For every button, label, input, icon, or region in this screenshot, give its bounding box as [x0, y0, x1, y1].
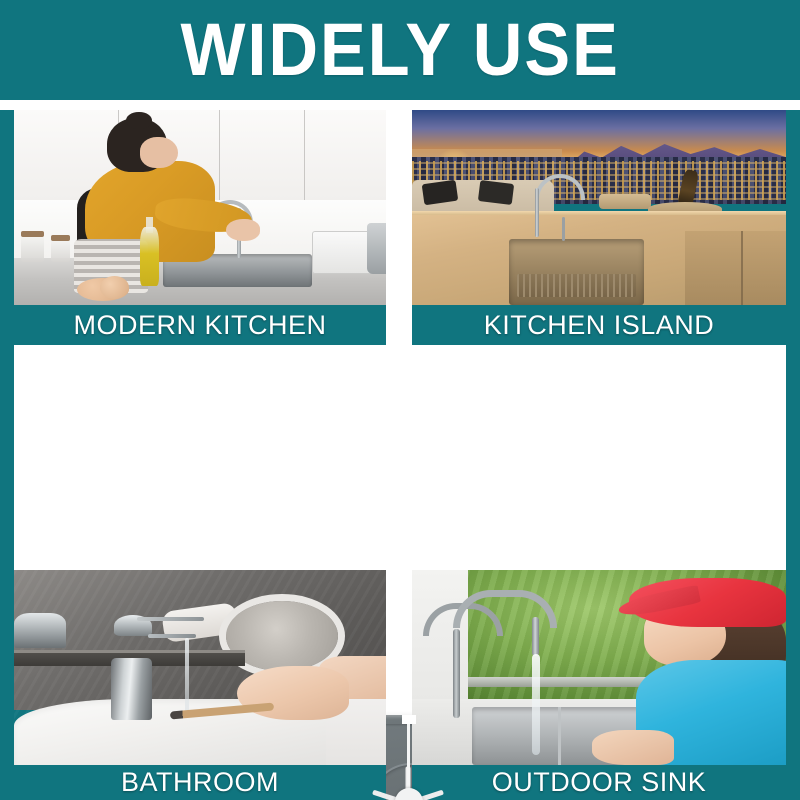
panel-modern-kitchen[interactable]: MODERN KITCHEN [14, 110, 386, 345]
poster-canvas: WIDELY USE [0, 0, 800, 800]
caption-bathroom: BATHROOM [14, 765, 386, 800]
scene-modern-kitchen [14, 110, 386, 305]
mat-slit-notch [402, 715, 416, 724]
caption-kitchen-island: KITCHEN ISLAND [412, 305, 786, 345]
title-divider [0, 100, 800, 110]
page-title: WIDELY USE [180, 13, 619, 87]
panel-bathroom[interactable]: BATHROOM [14, 570, 386, 800]
top-row-gutter [386, 110, 412, 345]
scene-bathroom [14, 570, 386, 765]
product-showcase-band [14, 345, 786, 570]
panel-kitchen-island[interactable]: KITCHEN ISLAND [412, 110, 786, 345]
scene-kitchen-island [412, 110, 786, 305]
poster-title-bar: WIDELY USE [0, 0, 800, 100]
caption-outdoor-sink: OUTDOOR SINK [412, 765, 786, 800]
photo-bathroom [14, 570, 386, 765]
photo-outdoor-sink [412, 570, 786, 765]
panel-outdoor-sink[interactable]: OUTDOOR SINK [412, 570, 786, 800]
photo-kitchen-island [412, 110, 786, 305]
photo-modern-kitchen [14, 110, 386, 305]
caption-modern-kitchen: MODERN KITCHEN [14, 305, 386, 345]
scene-outdoor-sink [412, 570, 786, 765]
